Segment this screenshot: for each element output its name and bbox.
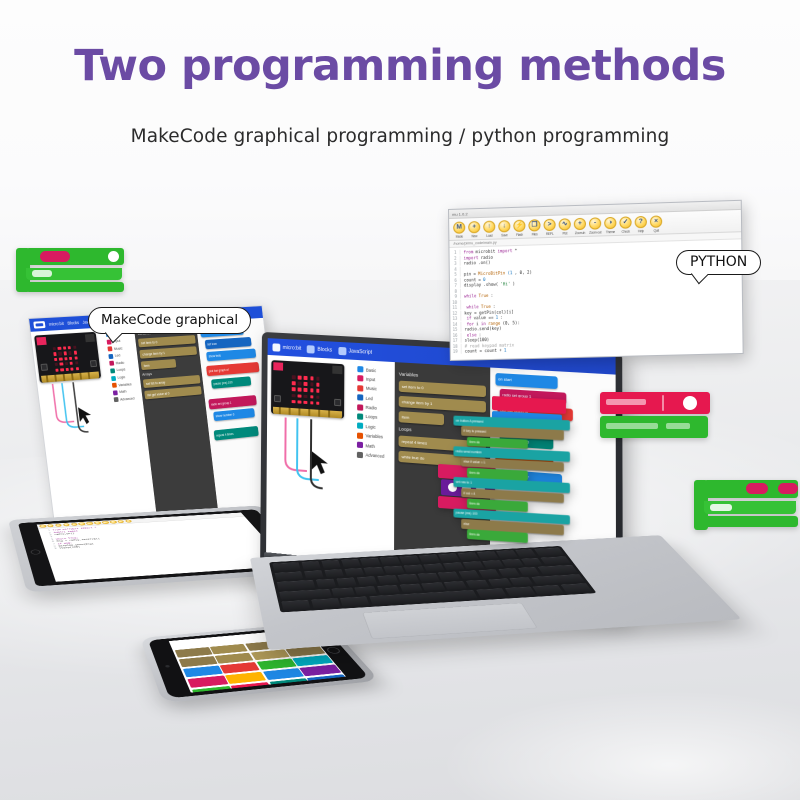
simulator-led: [310, 376, 314, 380]
keyboard-key[interactable]: [400, 556, 421, 564]
category-label: Logic: [366, 424, 376, 430]
category-label: Input: [366, 376, 375, 382]
simulator-led: [63, 352, 66, 355]
category-item-music[interactable]: Music: [357, 385, 391, 393]
simulator-led: [292, 375, 296, 379]
mu-button-label: Quit: [654, 228, 659, 232]
category-color-swatch: [109, 361, 114, 366]
code-token: if: [466, 316, 471, 321]
category-item-radio[interactable]: Radio: [357, 404, 391, 412]
category-color-swatch: [357, 375, 363, 381]
zoom-in-icon: +: [574, 217, 587, 230]
keyboard-key[interactable]: [272, 562, 300, 571]
code-token: (0, 5):: [503, 320, 520, 325]
line-number: 18: [451, 343, 462, 348]
code-token: =: [478, 277, 481, 282]
mu-button-files[interactable]: ❐ Files: [527, 219, 541, 236]
keyboard-key[interactable]: [332, 587, 355, 596]
line-number: 3: [450, 261, 461, 266]
tray-title: Variables: [399, 371, 486, 381]
microbit-ear-left: [36, 337, 46, 345]
mu-button-save[interactable]: ↓ Save: [497, 220, 511, 237]
category-label: Variables: [366, 433, 383, 439]
tray-block[interactable]: item: [399, 411, 444, 425]
microbit-button-a[interactable]: [41, 364, 48, 371]
simulator-led: [304, 401, 308, 405]
mu-button-plotter[interactable]: ∿ Plot: [558, 218, 572, 236]
code-token: radio: [464, 260, 476, 265]
help-icon: ?: [634, 215, 647, 228]
microbit-simulator[interactable]: [34, 332, 101, 383]
keyboard-key[interactable]: [357, 576, 378, 585]
code-token: :: [493, 304, 496, 309]
keyboard-key[interactable]: [377, 575, 398, 584]
toolbar-icon[interactable]: [94, 521, 102, 524]
keyboard-key[interactable]: [341, 559, 361, 567]
category-item-variables[interactable]: Variables: [357, 432, 391, 441]
category-color-swatch: [357, 366, 363, 372]
simulator-led: [53, 352, 56, 355]
toolbar-icon[interactable]: [109, 520, 117, 523]
keyboard-key[interactable]: [316, 579, 337, 588]
makecode-topbar-label-1[interactable]: Blocks: [67, 320, 79, 326]
microbit-ear-left: [273, 362, 283, 370]
simulator-led: [316, 389, 320, 393]
load-icon: ↑: [483, 220, 496, 233]
tray-block[interactable]: list get value at 0: [144, 386, 202, 399]
microbit-button-b[interactable]: [334, 399, 341, 406]
keyboard-key[interactable]: [561, 583, 592, 593]
category-color-swatch: [357, 394, 363, 400]
keyboard-key[interactable]: [311, 598, 340, 608]
laptop-trackpad[interactable]: [362, 603, 537, 639]
category-label: Logic: [117, 375, 125, 379]
toolbar-icon[interactable]: [117, 520, 125, 523]
category-color-swatch: [357, 442, 363, 449]
microbit-ear-right: [332, 366, 342, 375]
keyboard-key[interactable]: [476, 588, 507, 598]
keyboard-key[interactable]: [377, 585, 400, 594]
keyboard-key[interactable]: [380, 557, 400, 565]
line-number: 12: [450, 310, 461, 315]
simulator-led: [69, 351, 72, 354]
line-number: 11: [450, 305, 461, 310]
category-item-advanced[interactable]: Advanced: [114, 395, 141, 402]
code-token: True: [479, 293, 489, 298]
toolbar-icon[interactable]: [78, 522, 86, 525]
new-icon: +: [468, 221, 481, 234]
code-token: in: [481, 321, 486, 326]
mu-button-help[interactable]: ? Help: [634, 215, 648, 233]
category-label: Music: [114, 346, 123, 350]
simulator-led: [69, 357, 72, 360]
mu-button-label: Save: [501, 233, 508, 237]
tray-block[interactable]: change item by 1: [139, 346, 197, 358]
mu-button-label: Flash: [516, 232, 523, 236]
code-token: import: [464, 255, 479, 260]
microbit-button-a[interactable]: [274, 395, 281, 402]
makecode-topbar-label-0: micro:bit: [49, 321, 64, 327]
category-item-basic[interactable]: Basic: [357, 366, 391, 374]
category-label: Advanced: [365, 452, 384, 458]
keyboard-key[interactable]: [344, 568, 364, 577]
simulator-led: [60, 363, 63, 366]
keyboard-key[interactable]: [438, 553, 459, 561]
mu-button-load[interactable]: ↑ Load: [482, 220, 496, 237]
simulator-led: [65, 362, 68, 365]
simulator-led: [316, 401, 320, 405]
keyboard-key[interactable]: [304, 570, 324, 579]
tray-block[interactable]: change item by 1: [399, 396, 486, 413]
simulator-led: [64, 357, 67, 360]
keyboard-key[interactable]: [399, 583, 422, 592]
category-color-swatch: [357, 385, 363, 391]
mu-button-label: Mode: [456, 234, 463, 238]
line-number: 13: [450, 316, 461, 321]
category-color-swatch: [112, 383, 117, 388]
category-color-swatch: [108, 354, 113, 359]
code-token: for: [467, 321, 474, 326]
category-color-swatch: [114, 397, 119, 402]
callout-makecode: MakeCode graphical: [88, 307, 251, 334]
simulator-led: [75, 367, 78, 370]
mu-button-repl[interactable]: > REPL: [542, 218, 556, 236]
workspace-block[interactable]: pause (ms) 100: [211, 376, 251, 388]
keyboard-key[interactable]: [463, 561, 485, 570]
callout-python: PYTHON: [676, 250, 761, 275]
keyboard-key[interactable]: [533, 585, 564, 595]
code-token: :: [491, 293, 494, 298]
mu-button-new[interactable]: + New: [467, 220, 481, 237]
keyboard-key[interactable]: [477, 551, 498, 559]
simulator-led: [310, 401, 314, 405]
simulator-led: [304, 394, 308, 398]
simulator-led: [298, 394, 302, 398]
tab-javascript-label: JavaScript: [349, 348, 372, 355]
category-item-led[interactable]: Led: [108, 352, 135, 359]
category-color-swatch: [357, 404, 363, 410]
simulator-led: [292, 387, 296, 391]
mu-button-check[interactable]: ✓ Check: [618, 216, 632, 234]
toolbar-icon[interactable]: [70, 523, 78, 526]
microbit-logo-icon: micro:bit: [272, 343, 301, 353]
makecode-category-list-laptop[interactable]: BasicInputMusicLedRadioLoopsLogicVariabl…: [353, 360, 395, 571]
mu-button-flash[interactable]: ⚡ Flash: [512, 219, 526, 236]
toolbar-icon[interactable]: [47, 524, 55, 528]
mu-button-label: Zoom-in: [575, 230, 585, 234]
tablet-home-button[interactable]: [30, 549, 41, 555]
simulator-led: [70, 367, 73, 370]
code-token: MicroBitPin: [478, 271, 505, 277]
tab-javascript[interactable]: JavaScript: [338, 346, 372, 356]
code-token: else: [467, 332, 477, 337]
keyboard-key[interactable]: [301, 561, 321, 570]
keyboard-key[interactable]: [404, 564, 425, 573]
floating-block-group-right-bottom: [694, 480, 798, 530]
line-number: 9: [450, 294, 461, 299]
code-token: 0: [483, 277, 486, 282]
category-label: Math: [119, 390, 127, 394]
keyboard-key[interactable]: [496, 550, 517, 558]
code-token: while: [466, 304, 478, 309]
plotter-icon: ∿: [558, 218, 571, 231]
floating-block-group-right-top: [600, 392, 710, 442]
line-number: 15: [450, 327, 461, 332]
category-label: Led: [115, 354, 121, 358]
keyboard-key[interactable]: [534, 548, 564, 557]
category-item-math[interactable]: Math: [113, 388, 140, 395]
keyboard-key[interactable]: [419, 555, 440, 563]
toolbar-icon[interactable]: [39, 524, 47, 528]
line-number: 19: [451, 349, 462, 354]
code-token: 1: [504, 348, 507, 353]
category-item-led[interactable]: Led: [357, 394, 391, 402]
keyboard-key[interactable]: [482, 560, 504, 568]
simulator-led: [65, 367, 68, 370]
keyboard-key[interactable]: [324, 569, 344, 578]
category-label: Advanced: [120, 396, 135, 401]
category-item-math[interactable]: Math: [357, 442, 391, 451]
category-color-swatch: [357, 432, 363, 438]
simulator-led: [59, 357, 62, 360]
mu-button-quit[interactable]: × Quit: [649, 215, 663, 233]
laptop-base: [250, 558, 680, 733]
line-number: 9: [49, 547, 57, 550]
keyboard-key[interactable]: [488, 578, 512, 587]
simulator-led: [310, 382, 314, 386]
keyboard-key[interactable]: [418, 573, 440, 582]
simulator-led: [58, 347, 61, 350]
keyboard-key[interactable]: [538, 565, 578, 575]
toolbar-icon[interactable]: [62, 523, 70, 526]
keyboard-key[interactable]: [336, 578, 357, 587]
simulator-led: [316, 395, 320, 399]
simulator-led: [298, 388, 302, 392]
category-label: Music: [366, 386, 377, 392]
code-token: pin: [464, 272, 471, 277]
keyboard-key[interactable]: [540, 556, 571, 565]
code-text: sleep(100): [59, 546, 81, 549]
line-number: 2: [450, 255, 461, 260]
workspace-block[interactable]: show number 0: [213, 408, 255, 421]
code-token: radio: [481, 254, 493, 259]
line-number: 16: [451, 332, 462, 337]
category-item-advanced[interactable]: Advanced: [357, 451, 391, 460]
simulator-led: [304, 376, 308, 380]
save-icon: ↓: [498, 220, 511, 233]
zoom-out-icon: -: [589, 217, 602, 230]
toolbar-icon[interactable]: [86, 522, 94, 525]
category-item-logic[interactable]: Logic: [357, 423, 391, 431]
simulator-led: [304, 388, 308, 392]
code-token: =: [473, 271, 476, 276]
mu-button-label: REPL: [546, 231, 554, 235]
simulator-led: [74, 356, 77, 359]
mu-button-label: Check: [622, 229, 630, 233]
simulator-led: [298, 376, 302, 380]
workspace-block[interactable]: show leds: [206, 348, 256, 361]
simulator-led: [298, 382, 302, 386]
mu-button-theme[interactable]: ◑ Theme: [603, 216, 617, 234]
cursor-pointer-icon: [310, 449, 344, 478]
simulator-led: [310, 389, 314, 393]
toolbar-icon[interactable]: [55, 524, 63, 527]
category-color-swatch: [110, 368, 115, 373]
microbit-logo-icon: [33, 321, 45, 329]
floating-block-group-left: [16, 248, 124, 292]
microbit-simulator[interactable]: [271, 360, 344, 418]
keyboard-key[interactable]: [478, 569, 500, 578]
keyboard-key[interactable]: [438, 572, 460, 581]
keyboard-key[interactable]: [521, 558, 543, 566]
simulator-led: [316, 377, 320, 381]
category-item-logic[interactable]: Logic: [111, 374, 138, 381]
keyboard-key[interactable]: [340, 597, 370, 607]
simulator-led: [292, 400, 296, 404]
tray-block[interactable]: item: [141, 359, 177, 370]
code-token: range: [488, 320, 500, 325]
simulator-led: [58, 352, 61, 355]
line-number: 6: [450, 277, 461, 282]
category-label: Loops: [116, 368, 125, 372]
quit-icon: ×: [650, 215, 663, 228]
category-color-swatch: [111, 376, 116, 381]
category-color-swatch: [357, 451, 363, 458]
category-item-loops[interactable]: Loops: [110, 367, 137, 374]
code-token: import: [498, 248, 513, 253]
tray-block[interactable]: set item to 0: [399, 381, 486, 398]
keyboard-key[interactable]: [354, 586, 377, 595]
keyboard-key[interactable]: [423, 563, 444, 572]
keyboard-key[interactable]: [458, 552, 479, 560]
mu-button-label: Load: [486, 233, 492, 237]
toolbar-icon[interactable]: [125, 519, 133, 522]
category-item-loops[interactable]: Loops: [357, 413, 391, 421]
code-token: while: [464, 294, 476, 299]
category-item-radio[interactable]: Radio: [109, 359, 136, 366]
simulator-led: [68, 346, 71, 349]
simulator-led: [54, 358, 57, 361]
category-label: Led: [366, 395, 373, 400]
keyboard-key[interactable]: [364, 567, 385, 576]
category-item-music[interactable]: Music: [107, 345, 134, 352]
simulator-led: [53, 347, 56, 350]
cursor-pointer-icon: [76, 403, 106, 427]
keyboard-key[interactable]: [518, 567, 541, 576]
keyboard-key[interactable]: [498, 568, 520, 577]
line-number: 4: [450, 266, 461, 271]
callout-makecode-label: MakeCode graphical: [101, 312, 238, 328]
workspace-block[interactable]: on start: [495, 373, 557, 389]
tab-blocks-label: Blocks: [317, 346, 332, 353]
keyboard-key[interactable]: [398, 574, 419, 583]
simulator-led: [304, 382, 308, 386]
code-token: from: [463, 250, 473, 255]
mu-button-zoom-out[interactable]: - Zoom-out: [588, 217, 602, 235]
category-label: Radio: [366, 405, 377, 411]
category-label: Math: [366, 443, 375, 449]
line-number: 5: [450, 272, 461, 277]
keyboard-key[interactable]: [275, 571, 304, 580]
keyboard-key[interactable]: [384, 566, 405, 575]
code-token: *: [515, 248, 518, 253]
workspace-block[interactable]: set icon: [205, 337, 252, 349]
keyboard-key[interactable]: [502, 559, 524, 567]
mu-button-label: New: [471, 234, 477, 238]
keyboard-key[interactable]: [277, 580, 316, 590]
microbit-button-b[interactable]: [90, 360, 97, 367]
tab-blocks[interactable]: Blocks: [307, 345, 332, 354]
code-token: :: [500, 315, 503, 320]
category-color-swatch: [113, 390, 118, 395]
simulator-led: [55, 363, 58, 366]
keyboard-key[interactable]: [458, 571, 480, 580]
mu-button-zoom-in[interactable]: + Zoom-in: [573, 217, 587, 235]
code-token: i: [476, 321, 479, 326]
python-window-title: mu 1.0.2: [452, 211, 468, 216]
simulator-led: [316, 383, 320, 387]
simulator-led: [73, 346, 76, 349]
category-item-variables[interactable]: Variables: [112, 381, 139, 388]
toolbar-icon[interactable]: [101, 521, 109, 524]
keyboard-key[interactable]: [444, 581, 468, 590]
code-token: , 0, 2): [515, 270, 532, 276]
category-color-swatch: [357, 423, 363, 429]
keyboard-key[interactable]: [421, 582, 445, 591]
simulator-led: [292, 381, 296, 385]
category-label: Basic: [366, 367, 376, 373]
repl-icon: >: [543, 218, 556, 231]
code-token: 1: [496, 315, 499, 320]
laptop-keyboard[interactable]: [269, 546, 597, 612]
page-title: Two programming methods: [0, 44, 800, 89]
microbit-ear-right: [85, 334, 95, 342]
simulator-panel-laptop: [266, 355, 354, 567]
phone-camera: [165, 665, 170, 668]
category-item-input[interactable]: Input: [357, 375, 391, 383]
mu-button-label: Theme: [606, 229, 615, 233]
simulator-led: [310, 395, 314, 399]
mu-button-mode[interactable]: M Mode: [452, 221, 466, 238]
line-number: 17: [451, 338, 462, 343]
keyboard-key[interactable]: [321, 560, 341, 568]
keyboard-key[interactable]: [443, 562, 464, 571]
keyboard-key[interactable]: [360, 558, 380, 566]
code-token: 'Hi': [500, 282, 510, 287]
check-icon: ✓: [619, 216, 632, 229]
simulator-led: [75, 362, 78, 365]
code-token: .on(): [478, 260, 490, 265]
flash-icon: ⚡: [513, 219, 526, 232]
keyboard-key[interactable]: [466, 580, 490, 589]
code-token: :: [479, 332, 482, 337]
keyboard-key[interactable]: [515, 549, 537, 557]
simulator-led: [55, 368, 58, 371]
category-color-swatch: [357, 413, 363, 419]
keyboard-key[interactable]: [509, 577, 534, 586]
keyboard-key[interactable]: [281, 600, 310, 610]
category-color-swatch: [107, 346, 112, 351]
page-subtitle: MakeCode graphical programming / python …: [0, 126, 800, 147]
tray-block[interactable]: set item to 0: [138, 335, 196, 347]
category-label: Loops: [366, 414, 378, 420]
code-token: ): [513, 281, 516, 286]
keyboard-key[interactable]: [505, 587, 536, 597]
code-token: (1: [507, 270, 512, 275]
code-token: display: [464, 282, 481, 287]
floating-block-stack: on button A pressedif key is pressedthen…: [453, 416, 574, 548]
simulator-led: [63, 346, 66, 349]
